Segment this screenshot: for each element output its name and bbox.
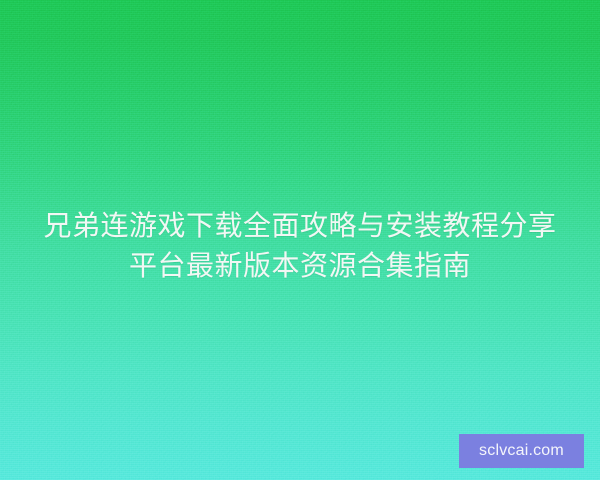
headline-line-2: 平台最新版本资源合集指南 (0, 246, 600, 286)
watermark-badge: sclvcai.com (459, 434, 584, 468)
watermark-label: sclvcai.com (479, 443, 564, 459)
headline-text: 兄弟连游戏下载全面攻略与安装教程分享 平台最新版本资源合集指南 (0, 206, 600, 286)
headline-line-1: 兄弟连游戏下载全面攻略与安装教程分享 (0, 206, 600, 246)
banner-image: 兄弟连游戏下载全面攻略与安装教程分享 平台最新版本资源合集指南 sclvcai.… (0, 0, 600, 480)
